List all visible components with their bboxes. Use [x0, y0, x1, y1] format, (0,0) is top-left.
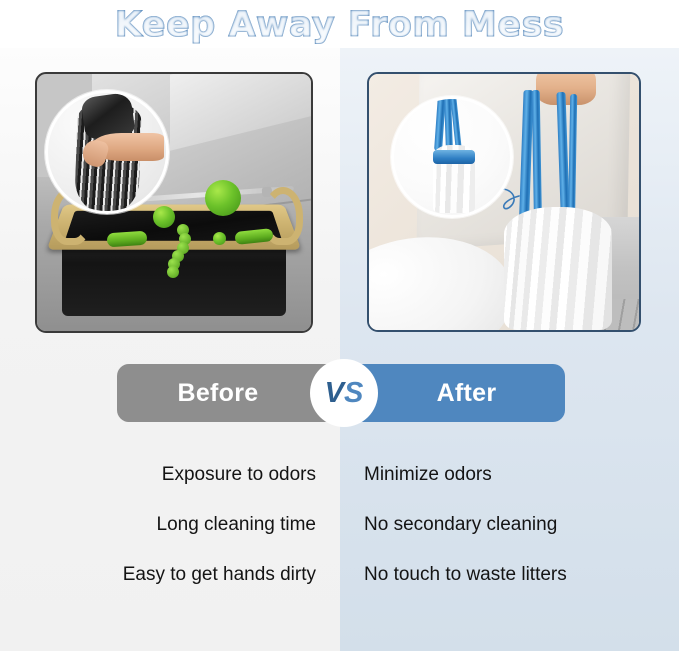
vs-letter-v: V — [325, 377, 344, 410]
comparison-table: Exposure to odors Minimize odors Long cl… — [0, 450, 679, 600]
table-row: Exposure to odors Minimize odors — [0, 450, 679, 500]
inset-after-circle — [391, 96, 513, 218]
page-title: Keep Away From Mess — [0, 0, 679, 50]
promo-image-root: Keep Away From Mess — [0, 0, 679, 651]
vs-badge: V S — [310, 359, 378, 427]
comparison-after-2: No secondary cleaning — [340, 514, 679, 536]
lid-inner-surface — [170, 72, 313, 152]
comparison-before-3: Easy to get hands dirty — [0, 564, 340, 586]
page-title-text: Keep Away From Mess — [115, 5, 565, 45]
comparison-before-2: Long cleaning time — [0, 514, 340, 536]
germ-virus-large — [205, 180, 241, 216]
comparison-after-3: No touch to waste litters — [340, 564, 679, 586]
before-bar-label: Before — [178, 379, 259, 408]
comparison-before-1: Exposure to odors — [0, 464, 340, 486]
inset-tied-knot-band — [433, 150, 475, 164]
germ-virus-small — [213, 232, 226, 245]
vs-letter-s: S — [344, 377, 363, 410]
photo-after — [367, 72, 641, 332]
table-row: Easy to get hands dirty No touch to wast… — [0, 550, 679, 600]
inset-before-circle — [45, 90, 169, 214]
after-bar-label: After — [437, 379, 497, 408]
germ-rod-left — [107, 231, 148, 248]
photo-before — [35, 72, 313, 333]
germ-worm — [167, 224, 193, 276]
table-row: Long cleaning time No secondary cleaning — [0, 500, 679, 550]
comparison-after-1: Minimize odors — [340, 464, 679, 486]
